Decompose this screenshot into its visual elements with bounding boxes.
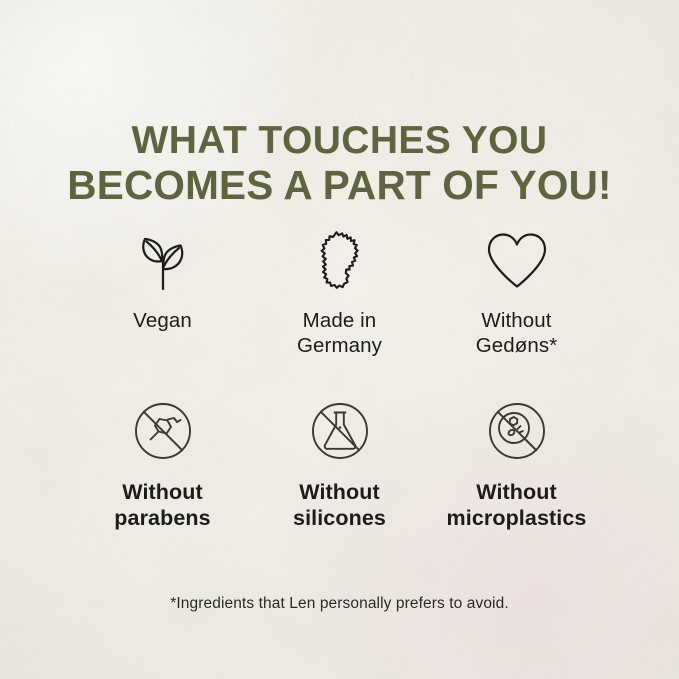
badge-vegan: Vegan [74, 228, 251, 358]
no-parabens-icon [132, 400, 194, 462]
footnote: *Ingredients that Len personally prefers… [0, 595, 679, 613]
badge-without-silicones: Without silicones [251, 400, 428, 531]
badge-label: Without silicones [293, 479, 386, 531]
benefit-badge-grid: Vegan Made in Germany Without Gedø [74, 228, 605, 531]
no-silicones-icon [309, 400, 371, 462]
sprout-icon [132, 228, 194, 294]
badge-without-gedons: Without Gedøns* [428, 228, 605, 358]
badge-label: Without parabens [114, 479, 210, 531]
badge-label: Without Gedøns* [476, 308, 558, 358]
germany-map-icon [312, 228, 368, 294]
headline: WHAT TOUCHES YOU BECOMES A PART OF YOU! [0, 118, 679, 208]
headline-line-2: BECOMES A PART OF YOU! [0, 163, 679, 208]
heart-icon [485, 228, 549, 294]
badge-label: Made in Germany [297, 308, 382, 358]
badge-without-microplastics: Without microplastics [428, 400, 605, 531]
headline-line-1: WHAT TOUCHES YOU [0, 118, 679, 163]
badge-made-in-germany: Made in Germany [251, 228, 428, 358]
no-microplastics-icon [486, 400, 548, 462]
badge-without-parabens: Without parabens [74, 400, 251, 531]
badge-label: Vegan [133, 308, 192, 333]
benefits-infographic: WHAT TOUCHES YOU BECOMES A PART OF YOU! … [0, 0, 679, 679]
badge-label: Without microplastics [447, 479, 587, 531]
